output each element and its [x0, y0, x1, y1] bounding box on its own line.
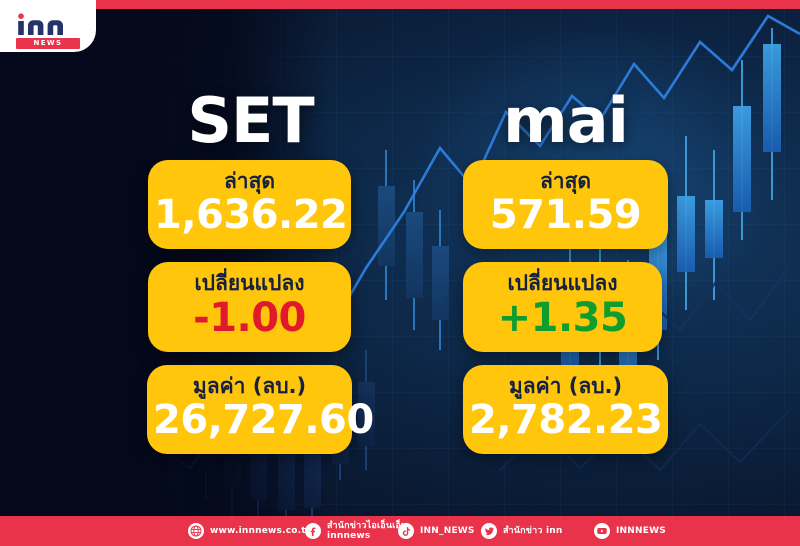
footer-tiktok-text: INN_NEWS: [420, 526, 475, 536]
footer-twitter-link[interactable]: สำนักข่าว inn: [481, 523, 562, 539]
index-name-mai: mai: [463, 82, 668, 160]
index-name-set: SET: [148, 82, 353, 160]
inn-news-logo: NEWS: [0, 0, 96, 52]
logo-news-badge: NEWS: [16, 38, 80, 49]
footer-website-text: www.innnews.co.th: [210, 526, 312, 536]
footer-social-bar: www.innnews.co.th สำนักข่าวไอเอ็นเอ็น in…: [0, 516, 800, 546]
footer-facebook-line2: innnews: [327, 531, 407, 541]
inn-wordmark-icon: [16, 13, 80, 35]
footer-facebook-link[interactable]: สำนักข่าวไอเอ็นเอ็น innnews: [305, 521, 407, 541]
globe-icon: [188, 523, 204, 539]
set-turnover-value: 26,727.60: [153, 399, 346, 442]
mai-last-label: ล่าสุด: [469, 168, 662, 194]
top-red-strip: [0, 0, 800, 9]
tiktok-icon: [398, 523, 414, 539]
set-last-value: 1,636.22: [154, 194, 345, 237]
mai-turnover-label: มูลค่า (ลบ.): [469, 373, 662, 399]
set-last-card: ล่าสุด 1,636.22: [148, 160, 351, 249]
mai-last-value: 571.59: [469, 194, 662, 237]
facebook-icon: [305, 523, 321, 539]
infographic-canvas: NEWS SET ล่าสุด 1,636.22 เปลี่ยนแปลง -1.…: [0, 0, 800, 546]
footer-tiktok-link[interactable]: INN_NEWS: [398, 523, 475, 539]
set-change-card: เปลี่ยนแปลง -1.00: [148, 262, 351, 351]
set-change-label: เปลี่ยนแปลง: [154, 270, 345, 296]
youtube-icon: [594, 523, 610, 539]
mai-change-value: +1.35: [469, 297, 656, 340]
mai-turnover-card: มูลค่า (ลบ.) 2,782.23: [463, 365, 668, 454]
twitter-icon: [481, 523, 497, 539]
mai-turnover-value: 2,782.23: [469, 399, 662, 442]
footer-facebook-text: สำนักข่าวไอเอ็นเอ็น innnews: [327, 521, 407, 541]
set-change-value: -1.00: [154, 297, 345, 340]
footer-youtube-text: INNNEWS: [616, 526, 666, 536]
mai-change-label: เปลี่ยนแปลง: [469, 270, 656, 296]
set-last-label: ล่าสุด: [154, 168, 345, 194]
set-turnover-label: มูลค่า (ลบ.): [153, 373, 346, 399]
market-column-mai: mai ล่าสุด 571.59 เปลี่ยนแปลง +1.35 มูลค…: [463, 82, 668, 467]
footer-youtube-link[interactable]: INNNEWS: [594, 523, 666, 539]
mai-last-card: ล่าสุด 571.59: [463, 160, 668, 249]
market-column-set: SET ล่าสุด 1,636.22 เปลี่ยนแปลง -1.00 มู…: [148, 82, 353, 467]
logo-news-badge-label: NEWS: [33, 40, 62, 47]
footer-facebook-line1: สำนักข่าวไอเอ็นเอ็น: [327, 521, 407, 531]
set-turnover-card: มูลค่า (ลบ.) 26,727.60: [147, 365, 352, 454]
mai-change-card: เปลี่ยนแปลง +1.35: [463, 262, 662, 351]
footer-website-link[interactable]: www.innnews.co.th: [188, 523, 312, 539]
footer-twitter-text: สำนักข่าว inn: [503, 526, 562, 536]
